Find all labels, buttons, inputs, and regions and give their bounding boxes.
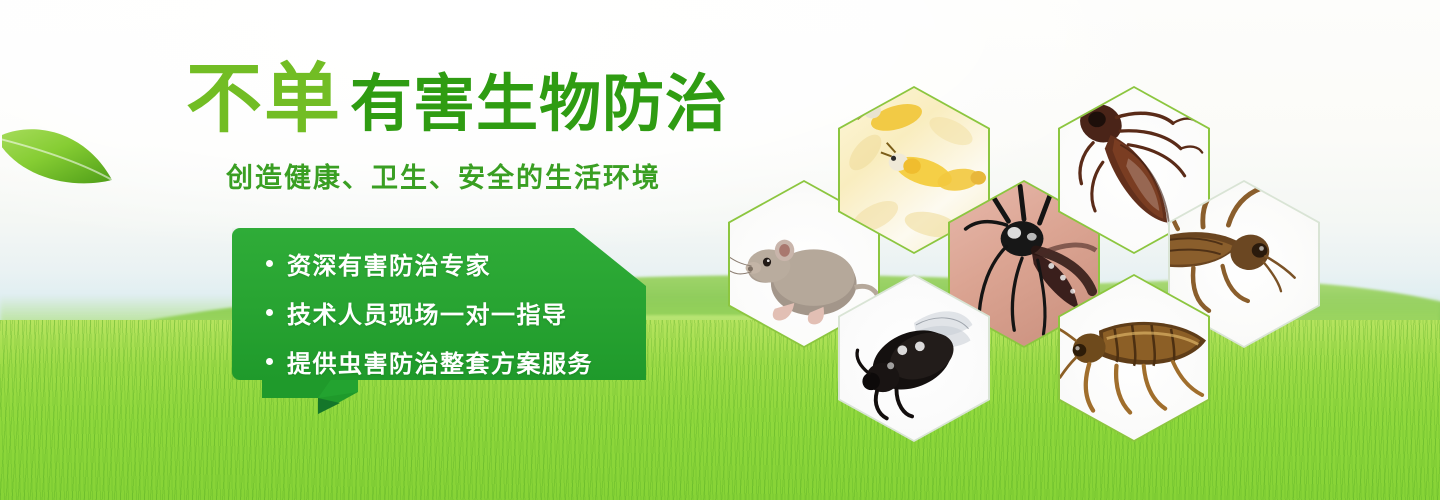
feature-list: 资深有害防治专家 技术人员现场一对一指导 提供虫害防治整套方案服务 bbox=[232, 228, 646, 379]
bullet-dot-icon bbox=[266, 260, 273, 267]
leaf-icon bbox=[2, 118, 120, 192]
ribbon-tail-icon bbox=[262, 378, 372, 424]
feature-label: 技术人员现场一对一指导 bbox=[287, 295, 568, 330]
bullet-dot-icon bbox=[266, 309, 273, 316]
feature-panel-wrap: 资深有害防治专家 技术人员现场一对一指导 提供虫害防治整套方案服务 bbox=[232, 228, 646, 380]
headline-accent: 不单 bbox=[186, 62, 342, 138]
pest-gallery bbox=[708, 74, 1440, 394]
feature-item: 提供虫害防治整套方案服务 bbox=[266, 344, 646, 379]
headline: 不单 有害生物防治 bbox=[186, 62, 728, 138]
feature-label: 资深有害防治专家 bbox=[287, 246, 491, 281]
headline-block: 不单 有害生物防治 创造健康、卫生、安全的生活环境 bbox=[186, 62, 728, 195]
headline-main: 有害生物防治 bbox=[350, 74, 728, 136]
subtitle: 创造健康、卫生、安全的生活环境 bbox=[226, 156, 728, 195]
feature-label: 提供虫害防治整套方案服务 bbox=[287, 344, 593, 379]
pest-control-hero-banner: 不单 有害生物防治 创造健康、卫生、安全的生活环境 资深有害防治专家 技术人员现… bbox=[0, 0, 1440, 500]
feature-item: 资深有害防治专家 bbox=[266, 246, 646, 281]
bullet-dot-icon bbox=[266, 358, 273, 365]
feature-panel: 资深有害防治专家 技术人员现场一对一指导 提供虫害防治整套方案服务 bbox=[232, 228, 646, 380]
feature-item: 技术人员现场一对一指导 bbox=[266, 295, 646, 330]
